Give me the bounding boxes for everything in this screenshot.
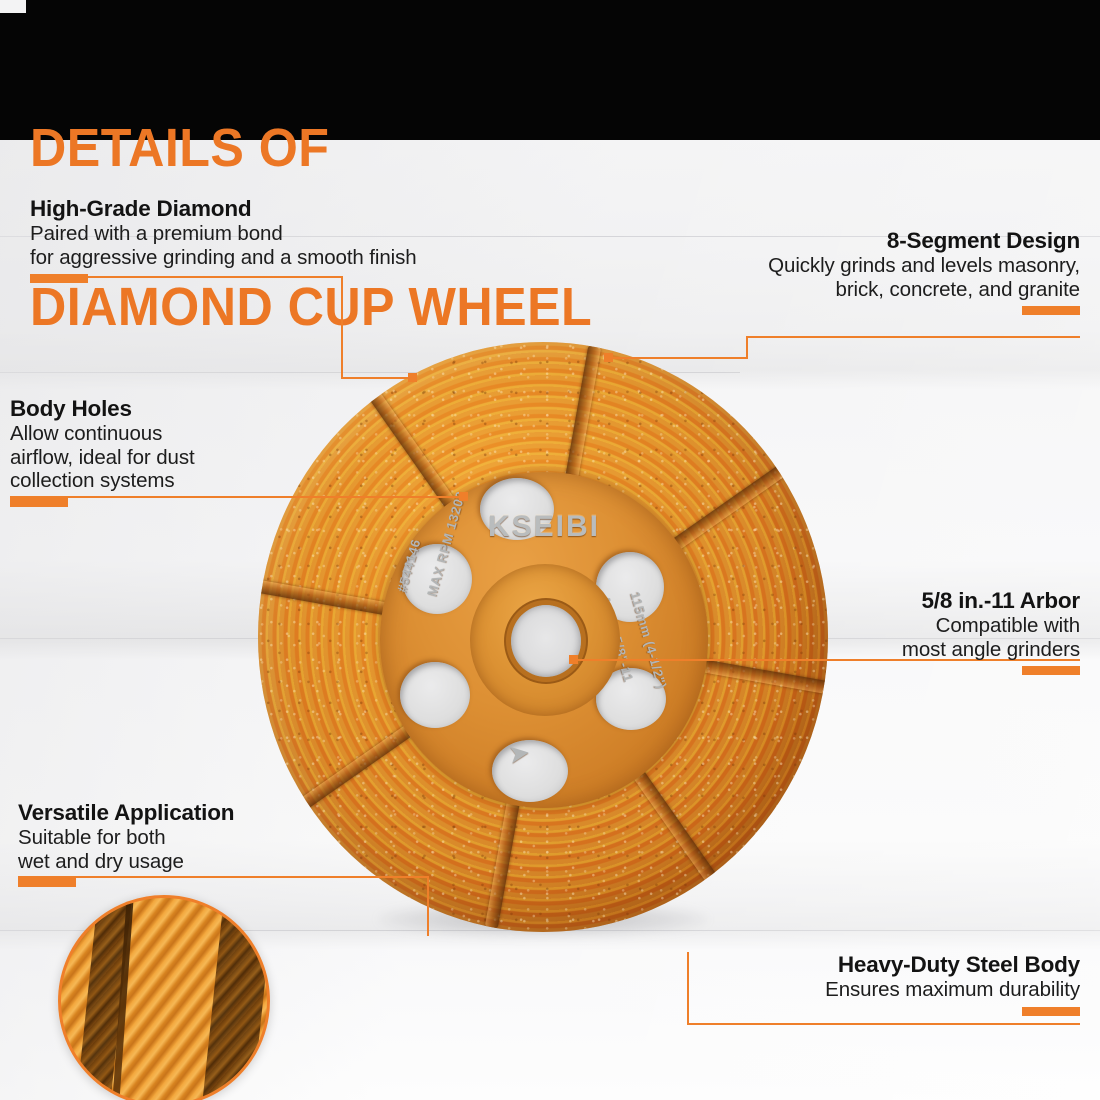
grit-closeup-inset [58,895,270,1100]
callout-body-line: for aggressive grinding and a smooth fin… [30,246,417,270]
leader-line [427,876,429,936]
callout-body-line: Allow continuous [10,422,195,446]
leader-line [746,336,748,358]
callout-versatile-application: Versatile Application Suitable for both … [18,800,234,887]
leader-line [687,1023,1080,1025]
callout-underline [10,498,195,507]
hub-inner-ring [470,564,620,716]
underline-accent [30,274,88,283]
callout-body-line: Suitable for both [18,826,234,850]
callout-underline [30,274,417,283]
callout-underline [825,1007,1080,1016]
underline-accent [10,498,68,507]
callout-body-line: most angle grinders [902,638,1080,662]
leader-line [746,336,1080,338]
body-hole [400,662,470,728]
underline-accent [1022,1007,1080,1016]
callout-body-line: Quickly grinds and levels masonry, [768,254,1080,278]
header-corner-notch [0,0,26,13]
callout-title: Body Holes [10,396,195,422]
leader-line [341,276,343,378]
leader-endpoint-marker [569,655,578,664]
callout-underline [768,306,1080,315]
callout-title: Heavy-Duty Steel Body [825,952,1080,978]
leader-line [341,377,413,379]
body-hole [492,740,568,802]
callout-arbor: 5/8 in.-11 Arbor Compatible with most an… [902,588,1080,675]
callout-underline [902,666,1080,675]
callout-body-line: Ensures maximum durability [825,978,1080,1002]
infographic-canvas: KSEIBI #544146 MAX RPM 13200 115mm (4-1/… [0,0,1100,1100]
leader-endpoint-marker [408,373,417,382]
callout-heavy-duty-steel-body: Heavy-Duty Steel Body Ensures maximum du… [825,952,1080,1016]
callout-title: Versatile Application [18,800,234,826]
callout-title: 8-Segment Design [768,228,1080,254]
callout-title: High-Grade Diamond [30,196,417,222]
underline-accent [18,878,76,887]
callout-body-line: airflow, ideal for dust [10,446,195,470]
callout-body-line: brick, concrete, and granite [768,278,1080,302]
title-line-1: DETAILS OF [30,122,592,175]
leader-line [608,357,748,359]
leader-line [687,952,689,1024]
callout-high-grade-diamond: High-Grade Diamond Paired with a premium… [30,196,417,283]
callout-body-line: Paired with a premium bond [30,222,417,246]
leader-endpoint-marker [604,353,613,362]
callout-body-holes: Body Holes Allow continuous airflow, ide… [10,396,195,507]
brand-logo: KSEIBI [380,510,708,544]
title-line-2: DIAMOND CUP WHEEL [30,281,592,334]
rotation-arrow-icon: ➤ [506,739,531,768]
callout-body-line: collection systems [10,469,195,493]
callout-8-segment-design: 8-Segment Design Quickly grinds and leve… [768,228,1080,315]
header-banner: DETAILS OF DIAMOND CUP WHEEL [0,0,1100,140]
callout-body-line: wet and dry usage [18,850,234,874]
underline-accent [1022,666,1080,675]
wheel-hub-plate: KSEIBI #544146 MAX RPM 13200 115mm (4-1/… [380,472,708,808]
callout-title: 5/8 in.-11 Arbor [902,588,1080,614]
callout-body-line: Compatible with [902,614,1080,638]
callout-underline [18,878,234,887]
arbor-bore [511,605,581,677]
underline-accent [1022,306,1080,315]
leader-endpoint-marker [459,492,468,501]
